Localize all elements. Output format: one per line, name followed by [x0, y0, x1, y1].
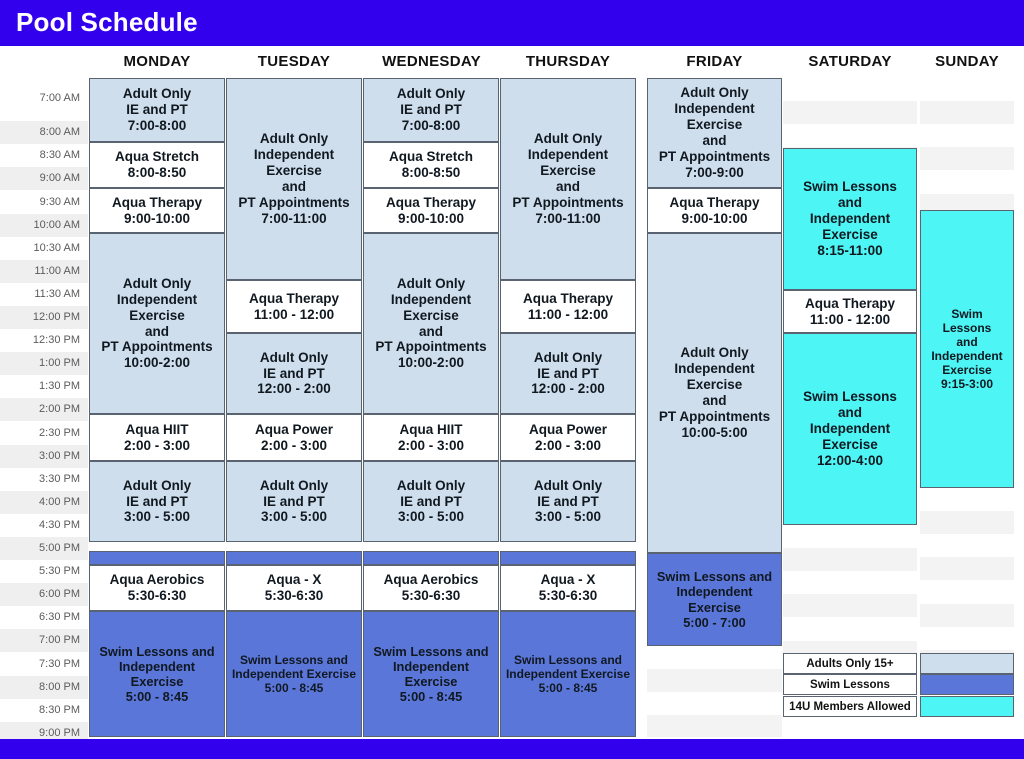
legend-label: 14U Members Allowed	[783, 696, 917, 717]
event-line: 7:00-9:00	[650, 165, 779, 181]
schedule-grid: 7:00 AM8:00 AM8:30 AM9:00 AM9:30 AM10:00…	[0, 46, 1024, 739]
event-line: PT Appointments	[92, 339, 222, 355]
event-line: Swim	[923, 307, 1011, 321]
event-block[interactable]: Adult OnlyIE and PT3:00 - 5:00	[500, 461, 636, 542]
event-line: and	[786, 195, 914, 211]
event-line: Adult Only	[229, 350, 359, 366]
event-line: 8:15-11:00	[786, 243, 914, 259]
time-label: 2:00 PM	[0, 398, 88, 421]
title-bar: Pool Schedule	[0, 0, 1024, 46]
event-block[interactable]: Adult OnlyIndependentExerciseandPT Appoi…	[500, 78, 636, 280]
event-line: 12:00 - 2:00	[503, 381, 633, 397]
event-block[interactable]: Adult OnlyIndependentExerciseandPT Appoi…	[647, 78, 782, 188]
time-label: 11:30 AM	[0, 283, 88, 306]
event-block[interactable]: Adult OnlyIE and PT7:00-8:00	[89, 78, 225, 142]
event-line: 5:00 - 8:45	[366, 689, 496, 704]
event-block[interactable]: Swim Lessons andIndependentExercise5:00 …	[647, 553, 782, 646]
event-block[interactable]: Aqua - X5:30-6:30	[226, 565, 362, 611]
event-line: Aqua - X	[503, 572, 633, 588]
day-header-friday: FRIDAY	[647, 50, 782, 74]
event-block[interactable]: Swim Lessons andIndependentExercise5:00 …	[89, 611, 225, 737]
time-label: 2:30 PM	[0, 422, 88, 445]
event-line: Aqua Stretch	[366, 149, 496, 165]
event-line: 10:00-5:00	[650, 425, 779, 441]
event-block[interactable]: Aqua HIIT2:00 - 3:00	[89, 414, 225, 461]
event-line: 3:00 - 5:00	[366, 509, 496, 525]
event-block[interactable]: Swim Lessons andIndependentExercise5:00 …	[363, 611, 499, 737]
event-line: Aqua Therapy	[650, 195, 779, 211]
event-line: 5:00 - 8:45	[503, 681, 633, 695]
event-line: Aqua Aerobics	[366, 572, 496, 588]
event-line: Exercise	[786, 437, 914, 453]
event-line: 2:00 - 3:00	[503, 438, 633, 454]
event-line: Swim Lessons and	[229, 653, 359, 667]
event-line: and	[503, 179, 633, 195]
event-line: Adult Only	[650, 345, 779, 361]
time-label: 12:00 PM	[0, 306, 88, 329]
event-line: Exercise	[92, 308, 222, 324]
event-line: 9:00-10:00	[650, 211, 779, 227]
event-block[interactable]: Aqua Aerobics5:30-6:30	[363, 565, 499, 611]
event-line: PT Appointments	[650, 149, 779, 165]
event-line: 5:00 - 8:45	[229, 681, 359, 695]
event-line: Adult Only	[503, 131, 633, 147]
legend-swatch	[920, 696, 1014, 717]
time-label: 1:00 PM	[0, 352, 88, 375]
event-line: Exercise	[650, 117, 779, 133]
event-line: Independent	[650, 101, 779, 117]
event-line: Aqua Therapy	[786, 296, 914, 312]
event-line: Independent Exercise	[229, 667, 359, 681]
event-line: Aqua Therapy	[366, 195, 496, 211]
event-block[interactable]: Aqua Therapy9:00-10:00	[363, 188, 499, 233]
event-line: IE and PT	[92, 494, 222, 510]
event-block[interactable]: Aqua Therapy11:00 - 12:00	[226, 280, 362, 333]
event-line: Adult Only	[229, 131, 359, 147]
event-line: 5:30-6:30	[229, 588, 359, 604]
event-block[interactable]: Adult OnlyIE and PT7:00-8:00	[363, 78, 499, 142]
event-line: 8:00-8:50	[92, 165, 222, 181]
event-line: Swim Lessons	[786, 179, 914, 195]
event-block[interactable]: Swim LessonsandIndependentExercise12:00-…	[783, 333, 917, 525]
row-stripe	[920, 604, 1014, 627]
event-line: Independent	[786, 211, 914, 227]
event-line: Independent	[650, 361, 779, 377]
event-line: 7:00-11:00	[229, 211, 359, 227]
event-line: 12:00 - 2:00	[229, 381, 359, 397]
time-label: 1:30 PM	[0, 375, 88, 398]
event-line: IE and PT	[503, 494, 633, 510]
event-block[interactable]: SwimLessonsandIndependentExercise9:15-3:…	[920, 210, 1014, 488]
event-block[interactable]: Aqua Therapy11:00 - 12:00	[500, 280, 636, 333]
event-block[interactable]: Swim Lessons andIndependent Exercise5:00…	[226, 611, 362, 737]
event-line: Swim Lessons and	[503, 653, 633, 667]
event-line: 10:00-2:00	[92, 355, 222, 371]
event-line: Adult Only	[366, 276, 496, 292]
event-line: 5:00 - 8:45	[92, 689, 222, 704]
event-line: PT Appointments	[229, 195, 359, 211]
event-line: Exercise	[650, 377, 779, 393]
event-line: Adult Only	[650, 85, 779, 101]
row-stripe	[783, 548, 917, 571]
time-label: 9:00 AM	[0, 167, 88, 190]
day-header-monday: MONDAY	[89, 50, 225, 74]
event-line: Adult Only	[229, 478, 359, 494]
event-line: 2:00 - 3:00	[366, 438, 496, 454]
event-line: PT Appointments	[650, 409, 779, 425]
event-line: Exercise	[92, 674, 222, 689]
event-line: Exercise	[650, 600, 779, 615]
event-line: 12:00-4:00	[786, 453, 914, 469]
event-line: 10:00-2:00	[366, 355, 496, 371]
event-line: Exercise	[786, 227, 914, 243]
row-stripe	[647, 669, 782, 692]
event-line: Independent	[229, 147, 359, 163]
time-label: 5:00 PM	[0, 537, 88, 560]
time-label: 5:30 PM	[0, 560, 88, 583]
event-block[interactable]	[89, 551, 225, 565]
event-line: Adult Only	[92, 478, 222, 494]
event-block[interactable]: Adult OnlyIE and PT3:00 - 5:00	[226, 461, 362, 542]
event-line: 9:00-10:00	[366, 211, 496, 227]
event-line: 11:00 - 12:00	[229, 307, 359, 323]
time-label: 4:00 PM	[0, 491, 88, 514]
time-label: 10:30 AM	[0, 237, 88, 260]
event-line: Exercise	[229, 163, 359, 179]
day-header-thursday: THURSDAY	[500, 50, 636, 74]
event-line: Adult Only	[503, 350, 633, 366]
event-line: PT Appointments	[366, 339, 496, 355]
event-line: and	[366, 324, 496, 340]
time-label: 8:00 AM	[0, 121, 88, 144]
event-line: Independent	[366, 292, 496, 308]
time-label: 11:00 AM	[0, 260, 88, 283]
event-line: and	[229, 179, 359, 195]
row-stripe	[920, 101, 1014, 124]
time-label: 12:30 PM	[0, 329, 88, 352]
event-line: 3:00 - 5:00	[229, 509, 359, 525]
row-stripe	[783, 641, 917, 654]
event-block[interactable]	[363, 551, 499, 565]
event-line: Lessons	[923, 321, 1011, 335]
event-line: 11:00 - 12:00	[786, 312, 914, 328]
event-line: Independent	[650, 584, 779, 599]
legend-label: Swim Lessons	[783, 674, 917, 695]
legend-swatch	[920, 653, 1014, 674]
event-line: Aqua Stretch	[92, 149, 222, 165]
event-line: Aqua HIIT	[92, 422, 222, 438]
event-line: Swim Lessons and	[92, 644, 222, 659]
event-line: 5:30-6:30	[503, 588, 633, 604]
event-block[interactable]: Aqua Power2:00 - 3:00	[500, 414, 636, 461]
event-line: and	[650, 393, 779, 409]
time-label: 7:30 PM	[0, 653, 88, 676]
day-header-tuesday: TUESDAY	[226, 50, 362, 74]
event-line: IE and PT	[229, 494, 359, 510]
event-block[interactable]: Aqua Therapy9:00-10:00	[89, 188, 225, 233]
event-line: Aqua Power	[503, 422, 633, 438]
time-label: 8:30 PM	[0, 699, 88, 722]
event-block[interactable]: Adult OnlyIE and PT12:00 - 2:00	[500, 333, 636, 414]
event-line: Aqua Power	[229, 422, 359, 438]
row-stripe	[920, 511, 1014, 534]
time-label: 3:30 PM	[0, 468, 88, 491]
event-block[interactable]: Swim Lessons andIndependent Exercise5:00…	[500, 611, 636, 737]
event-line: and	[92, 324, 222, 340]
row-stripe	[647, 715, 782, 737]
event-block[interactable]: Adult OnlyIndependentExerciseandPT Appoi…	[226, 78, 362, 280]
row-stripe	[783, 101, 917, 124]
time-label: 7:00 PM	[0, 629, 88, 652]
event-block[interactable]: Aqua HIIT2:00 - 3:00	[363, 414, 499, 461]
time-label: 6:30 PM	[0, 606, 88, 629]
event-block[interactable]: Aqua Power2:00 - 3:00	[226, 414, 362, 461]
event-line: PT Appointments	[503, 195, 633, 211]
event-line: 7:00-8:00	[366, 118, 496, 134]
event-line: IE and PT	[503, 366, 633, 382]
day-header-saturday: SATURDAY	[783, 50, 917, 74]
event-line: Swim Lessons and	[366, 644, 496, 659]
event-line: 7:00-8:00	[92, 118, 222, 134]
event-line: and	[650, 133, 779, 149]
row-stripe	[783, 594, 917, 617]
event-block[interactable]: Aqua Stretch8:00-8:50	[89, 142, 225, 188]
event-line: Exercise	[923, 363, 1011, 377]
event-line: Aqua Therapy	[503, 291, 633, 307]
event-line: 5:30-6:30	[92, 588, 222, 604]
row-stripe	[920, 194, 1014, 211]
event-line: Exercise	[366, 308, 496, 324]
row-stripe	[920, 557, 1014, 580]
event-line: Independent	[786, 421, 914, 437]
event-line: Aqua - X	[229, 572, 359, 588]
event-line: 3:00 - 5:00	[503, 509, 633, 525]
event-line: Aqua Therapy	[92, 195, 222, 211]
pool-schedule-page: Pool Schedule 7:00 AM8:00 AM8:30 AM9:00 …	[0, 0, 1024, 759]
event-line: and	[923, 335, 1011, 349]
event-line: Independent	[503, 147, 633, 163]
event-line: 2:00 - 3:00	[229, 438, 359, 454]
event-line: IE and PT	[366, 102, 496, 118]
legend-swatch	[920, 674, 1014, 695]
event-line: 11:00 - 12:00	[503, 307, 633, 323]
event-block[interactable]: Adult OnlyIndependentExerciseandPT Appoi…	[89, 233, 225, 414]
event-line: 2:00 - 3:00	[92, 438, 222, 454]
event-block[interactable]: Adult OnlyIE and PT3:00 - 5:00	[89, 461, 225, 542]
time-label: 9:30 AM	[0, 191, 88, 214]
day-header-sunday: SUNDAY	[920, 50, 1014, 74]
event-line: Independent	[92, 292, 222, 308]
page-title: Pool Schedule	[16, 7, 198, 38]
footer-bar	[0, 739, 1024, 759]
event-block[interactable]	[500, 551, 636, 565]
time-label: 6:00 PM	[0, 583, 88, 606]
event-line: Exercise	[366, 674, 496, 689]
event-line: Independent	[366, 659, 496, 674]
event-block[interactable]: Aqua - X5:30-6:30	[500, 565, 636, 611]
time-label: 3:00 PM	[0, 445, 88, 468]
event-line: Adult Only	[503, 478, 633, 494]
event-line: Adult Only	[366, 86, 496, 102]
event-line: Adult Only	[366, 478, 496, 494]
time-label: 8:30 AM	[0, 144, 88, 167]
event-line: Aqua Aerobics	[92, 572, 222, 588]
row-stripe	[920, 147, 1014, 170]
event-block[interactable]	[226, 551, 362, 565]
event-block[interactable]: Aqua Aerobics5:30-6:30	[89, 565, 225, 611]
event-line: 3:00 - 5:00	[92, 509, 222, 525]
event-line: 5:30-6:30	[366, 588, 496, 604]
time-label: 7:00 AM	[0, 75, 88, 121]
event-line: and	[786, 405, 914, 421]
event-line: 5:00 - 7:00	[650, 615, 779, 630]
event-block[interactable]: Adult OnlyIndependentExerciseandPT Appoi…	[647, 233, 782, 553]
event-line: 9:15-3:00	[923, 377, 1011, 391]
event-block[interactable]: Aqua Therapy11:00 - 12:00	[783, 290, 917, 333]
time-label: 10:00 AM	[0, 214, 88, 237]
event-block[interactable]: Aqua Stretch8:00-8:50	[363, 142, 499, 188]
event-line: Adult Only	[92, 86, 222, 102]
event-line: Aqua HIIT	[366, 422, 496, 438]
event-line: Independent	[92, 659, 222, 674]
event-line: 7:00-11:00	[503, 211, 633, 227]
event-block[interactable]: Adult OnlyIE and PT12:00 - 2:00	[226, 333, 362, 414]
day-header-wednesday: WEDNESDAY	[359, 50, 504, 74]
event-line: Independent	[923, 349, 1011, 363]
event-block[interactable]: Adult OnlyIndependentExerciseandPT Appoi…	[363, 233, 499, 414]
event-line: Adult Only	[92, 276, 222, 292]
event-line: Exercise	[503, 163, 633, 179]
legend-label: Adults Only 15+	[783, 653, 917, 674]
event-block[interactable]: Adult OnlyIE and PT3:00 - 5:00	[363, 461, 499, 542]
event-line: Swim Lessons	[786, 389, 914, 405]
event-block[interactable]: Aqua Therapy9:00-10:00	[647, 188, 782, 233]
event-line: Swim Lessons and	[650, 569, 779, 584]
event-line: 9:00-10:00	[92, 211, 222, 227]
event-block[interactable]: Swim LessonsandIndependentExercise8:15-1…	[783, 148, 917, 290]
time-label: 8:00 PM	[0, 676, 88, 699]
event-line: IE and PT	[366, 494, 496, 510]
event-line: Aqua Therapy	[229, 291, 359, 307]
time-label: 4:30 PM	[0, 514, 88, 537]
event-line: Independent Exercise	[503, 667, 633, 681]
event-line: IE and PT	[229, 366, 359, 382]
event-line: IE and PT	[92, 102, 222, 118]
event-line: 8:00-8:50	[366, 165, 496, 181]
